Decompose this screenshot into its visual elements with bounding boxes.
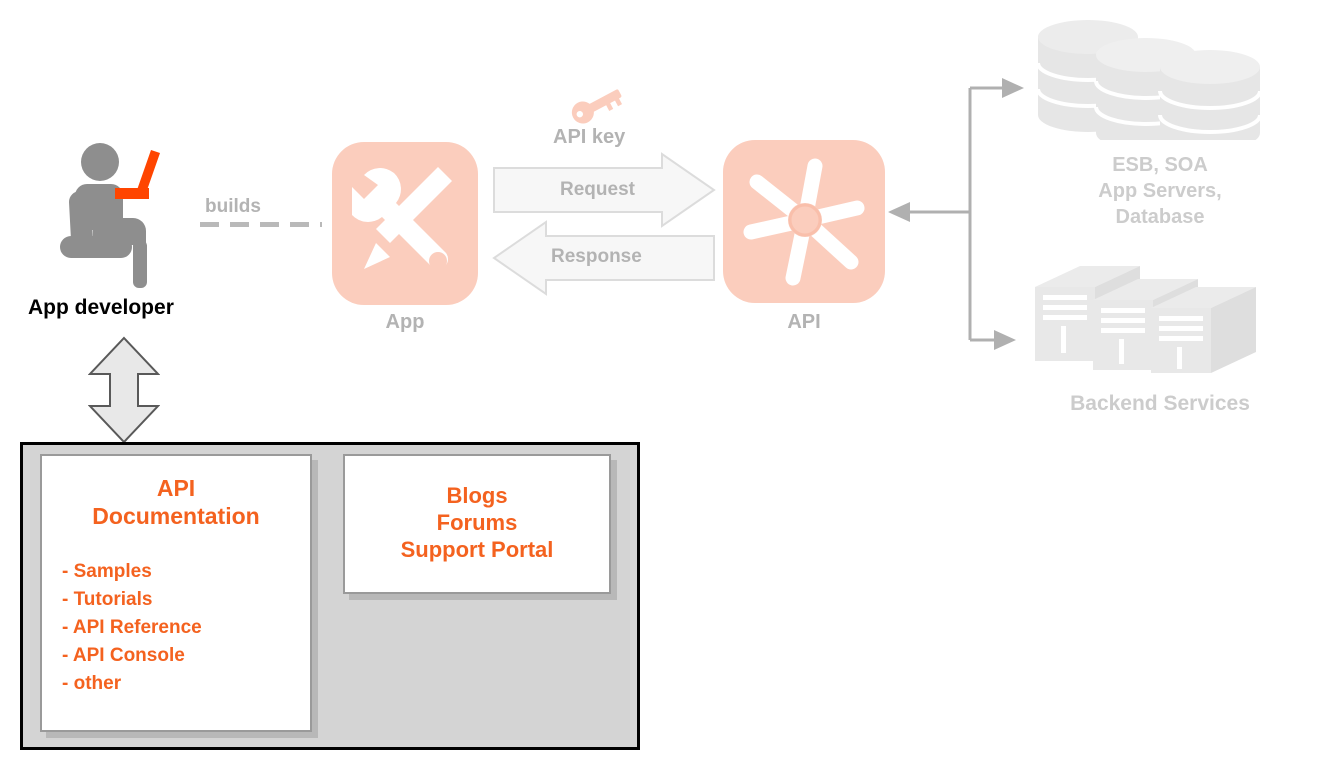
esb-soa-label: ESB, SOA App Servers, Database [1045, 152, 1275, 230]
backend-connectors [884, 70, 1034, 360]
request-label: Request [560, 179, 635, 201]
response-label: Response [551, 246, 642, 268]
community-resources-card[interactable]: Blogs Forums Support Portal [343, 454, 611, 594]
api-doc-title-line-2: Documentation [56, 502, 296, 530]
esb-line-1: ESB, SOA [1045, 152, 1275, 178]
esb-line-3: Database [1045, 204, 1275, 230]
api-documentation-title: API Documentation [56, 474, 296, 530]
list-item[interactable]: - API Reference [62, 614, 296, 642]
list-item[interactable]: - API Console [62, 642, 296, 670]
api-hub-star-icon [743, 158, 867, 286]
double-headed-vertical-arrow-icon [88, 336, 160, 444]
key-icon [567, 85, 627, 125]
builds-dashed-connector [200, 222, 322, 227]
api-key-label: API key [553, 126, 625, 149]
api-documentation-item-list: - Samples - Tutorials - API Reference - … [56, 558, 296, 698]
wrench-and-pencil-tools-icon [352, 165, 460, 283]
server-racks-icon [1035, 262, 1265, 377]
community-line-1: Blogs [355, 482, 599, 509]
developer-label: App developer [28, 296, 174, 320]
community-line-2: Forums [355, 509, 599, 536]
api-label: API [723, 311, 885, 334]
list-item[interactable]: - other [62, 670, 296, 698]
list-item[interactable]: - Tutorials [62, 586, 296, 614]
developer-figure-icon [55, 140, 185, 295]
community-line-3: Support Portal [355, 536, 599, 563]
database-stack-icon [1030, 15, 1270, 140]
app-label: App [332, 311, 478, 334]
community-resources-title: Blogs Forums Support Portal [355, 482, 599, 563]
list-item[interactable]: - Samples [62, 558, 296, 586]
api-doc-title-line-1: API [56, 474, 296, 502]
api-documentation-card[interactable]: API Documentation - Samples - Tutorials … [40, 454, 312, 732]
backend-services-label: Backend Services [1010, 392, 1310, 416]
builds-label: builds [205, 196, 261, 218]
esb-line-2: App Servers, [1045, 178, 1275, 204]
diagram-canvas: App developer builds App API key Request [0, 0, 1338, 770]
